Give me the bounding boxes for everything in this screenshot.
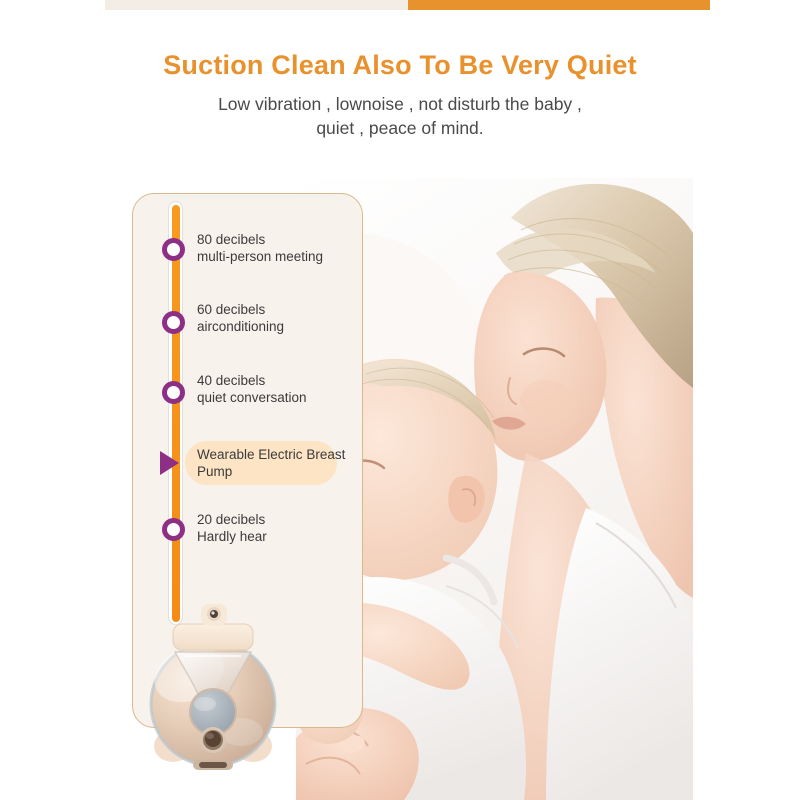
timeline-track-fill <box>172 205 180 622</box>
timeline-label-1-line1: 80 decibels <box>197 232 265 247</box>
breast-pump-product-image <box>129 592 297 782</box>
timeline-label-3-line1: 40 decibels <box>197 373 265 388</box>
timeline-marker-triangle-highlight[interactable] <box>160 451 179 475</box>
top-cream-strip <box>105 0 408 10</box>
product-illustration <box>129 592 297 782</box>
timeline-label-2: 60 decibels airconditioning <box>197 302 362 335</box>
timeline-label-5-line2: Hardly hear <box>197 529 362 546</box>
timeline-label-1-line2: multi-person meeting <box>197 249 362 266</box>
timeline-label-5: 20 decibels Hardly hear <box>197 512 362 545</box>
timeline-label-4-line1: Wearable Electric <box>197 447 303 462</box>
timeline-marker-ring-3[interactable] <box>162 381 185 404</box>
timeline-label-2-line1: 60 decibels <box>197 302 265 317</box>
subtitle-line-2: quiet , peace of mind. <box>316 118 483 138</box>
timeline-label-3: 40 decibels quiet conversation <box>197 373 362 406</box>
top-orange-strip <box>408 0 710 10</box>
timeline-label-3-line2: quiet conversation <box>197 390 362 407</box>
marketing-page: Suction Clean Also To Be Very Quiet Low … <box>0 0 800 800</box>
subtitle-line-1: Low vibration , lownoise , not disturb t… <box>218 94 582 114</box>
timeline-label-1: 80 decibels multi-person meeting <box>197 232 362 265</box>
timeline-label-5-line1: 20 decibels <box>197 512 265 527</box>
timeline-label-4: Wearable Electric Breast Pump <box>197 447 347 480</box>
timeline-marker-ring-1[interactable] <box>162 238 185 261</box>
timeline-label-2-line2: airconditioning <box>197 319 362 336</box>
page-subtitle: Low vibration , lownoise , not disturb t… <box>140 92 660 140</box>
timeline-marker-ring-5[interactable] <box>162 518 185 541</box>
timeline-marker-ring-2[interactable] <box>162 311 185 334</box>
page-title: Suction Clean Also To Be Very Quiet <box>0 50 800 81</box>
